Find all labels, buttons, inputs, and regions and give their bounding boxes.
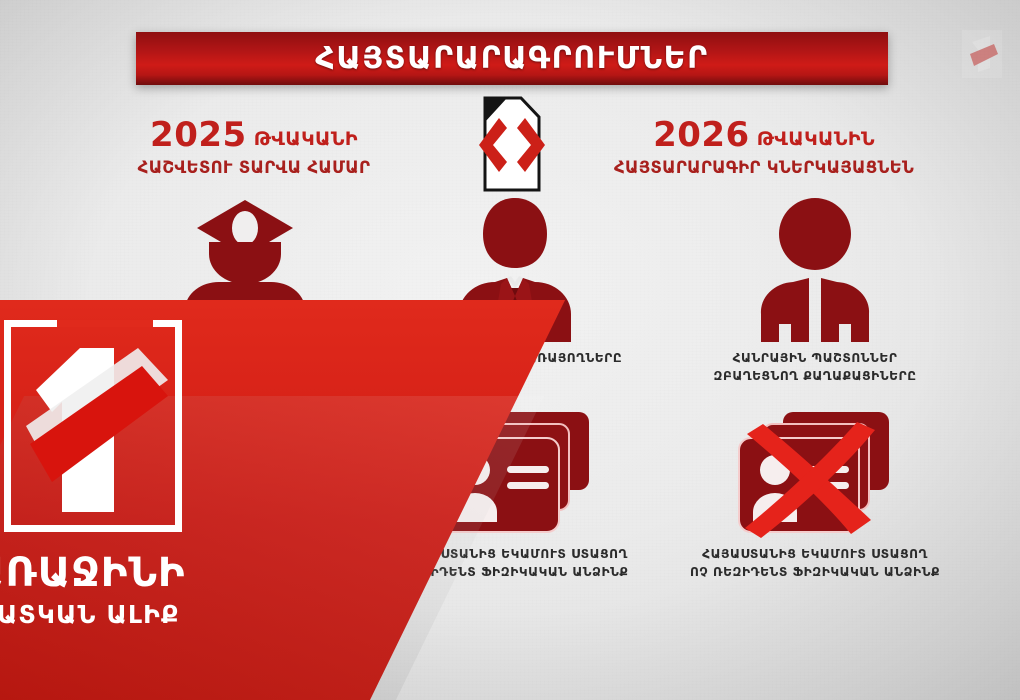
year-right-line1: 2026ԹՎԱԿԱՆԻՆ [600,118,928,152]
police-officer-icon [110,196,380,342]
cell-community-servants: ՀԱՄԱՅՆՔԱՅԻՆ ԾԱՌԱՅՈՂՆԵՐԸ [380,196,650,368]
cell-person-at-laptop: ԱԿԱՆ [110,392,380,564]
year-heading-right: 2026ԹՎԱԿԱՆԻՆ ՀԱՅՏԱՐԱՐԱԳԻՐ ԿՆԵՐԿԱՅԱՑՆԵՆ [600,118,928,177]
id-cards-icon [380,392,650,538]
id-cards-crossed-out-icon [672,392,958,538]
title-banner: ՀԱՅՏԱՐԱՐԱԳՐՈՒՄՆԵՐ [136,32,888,85]
cell-caption: ՀԱՅԱՍՏԱՆԻՑ ԵԿԱՄՈՒՏ ՍՏԱՑՈՂ ՈՉ ՌԵԶԻԴԵՆՏ ՖԻ… [672,546,958,581]
cell-non-resident-individuals: ՀԱՅԱՍՏԱՆԻՑ ԵԿԱՄՈՒՏ ՍՏԱՑՈՂ ՈՉ ՌԵԶԻԴԵՆՏ ՖԻ… [672,392,958,581]
cell-caption: ՀԱՅԱՍՏԱՆԻՑ ԵԿԱՄՈՒՏ ՍՏԱՑՈՂ ՌԵԶԻԴԵՆՏ ՖԻԶԻԿ… [380,546,650,581]
document-chevrons-icon [463,96,555,192]
cell-caption: ՀԱՄԱՅՆՔԱՅԻՆ ԾԱՌԱՅՈՂՆԵՐԸ [380,350,650,368]
cell-caption: ԱԿԱՆ [110,546,380,564]
cell-state-servants: ՊԵՏԱԿԱՆ ԾԱՌԱՅՈՂՆԵՐԸ [110,196,380,368]
year-right-word: ԹՎԱԿԱՆԻՆ [757,128,875,150]
watermark-line-2: ՊԱՏԿԱՆ ԱԼԻՔ [0,600,180,629]
year-left-word: ԹՎԱԿԱՆԻ [254,128,358,150]
year-heading-left: 2025ԹՎԱԿԱՆԻ ՀԱՇՎԵՏՈՒ ՏԱՐՎԱ ՀԱՄԱՐ [104,118,404,177]
cell-caption: ՊԵՏԱԿԱՆ ԾԱՌԱՅՈՂՆԵՐԸ [110,350,380,368]
channel-logo-bug [960,28,1004,80]
year-right-number: 2026 [653,115,750,155]
page-title: ՀԱՅՏԱՐԱՐԱԳՐՈՒՄՆԵՐ [315,41,708,76]
cell-public-office-citizens: ՀԱՆՐԱՅԻՆ ՊԱՇՏՈՆՆԵՐ ԶԲԱՂԵՑՆՈՂ ՔԱՂԱՔԱՑԻՆԵՐ… [672,196,958,385]
person-at-laptop-icon [110,392,380,538]
year-left-subtitle: ՀԱՇՎԵՏՈՒ ՏԱՐՎԱ ՀԱՄԱՐ [104,158,404,177]
year-left-line1: 2025ԹՎԱԿԱՆԻ [104,118,404,152]
year-right-subtitle: ՀԱՅՏԱՐԱՐԱԳԻՐ ԿՆԵՐԿԱՅԱՑՆԵՆ [600,158,928,177]
infographic-canvas: ՀԱՅՏԱՐԱՐԱԳՐՈՒՄՆԵՐ 2025ԹՎԱԿԱՆԻ ՀԱՇՎԵՏՈՒ Տ… [0,0,1020,700]
cell-resident-individuals: ՀԱՅԱՍՏԱՆԻՑ ԵԿԱՄՈՒՏ ՍՏԱՑՈՂ ՌԵԶԻԴԵՆՏ ՖԻԶԻԿ… [380,392,650,581]
cell-caption: ՀԱՆՐԱՅԻՆ ՊԱՇՏՈՆՆԵՐ ԶԲԱՂԵՑՆՈՂ ՔԱՂԱՔԱՑԻՆԵՐ… [672,350,958,385]
citizen-icon [672,196,958,342]
year-left-number: 2025 [150,115,247,155]
official-in-suit-icon [380,196,650,342]
